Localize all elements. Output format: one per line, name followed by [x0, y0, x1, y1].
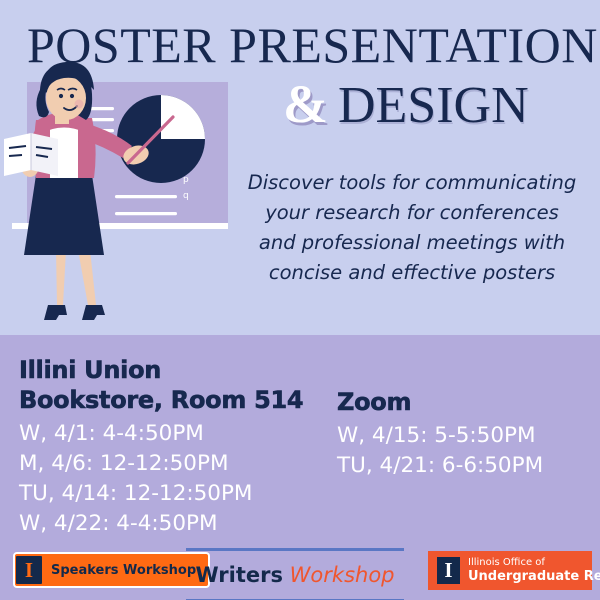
venue-heading: Illini Union Bookstore, Room 514: [19, 355, 339, 415]
writers-workshop-logo[interactable]: Writers Workshop: [186, 548, 404, 600]
writers-workshop-label: Writers Workshop: [195, 563, 394, 587]
presenter-illustration: p q: [0, 0, 240, 340]
undergraduate-research-logo[interactable]: I Illinois Office of Undergraduate Resea…: [428, 551, 592, 590]
description-line: concise and effective posters: [228, 258, 596, 288]
venue-slot: TU, 4/14: 12-12:50PM: [19, 479, 339, 509]
block-i-glyph: I: [444, 560, 452, 581]
leg-back: [56, 250, 66, 305]
illinois-block-i-icon: I: [437, 557, 460, 584]
zoom-column: Zoom W, 4/15: 5-5:50PM TU, 4/21: 6-6:50P…: [337, 387, 592, 481]
illinois-block-i-icon: I: [16, 556, 42, 584]
shoe-front: [82, 305, 105, 320]
venue-heading-line: Illini Union: [19, 355, 339, 385]
open-booklet: [4, 133, 58, 176]
board-line: [115, 212, 177, 215]
zoom-slot: W, 4/15: 5-5:50PM: [337, 421, 592, 451]
skirt: [24, 175, 104, 255]
board-mark-q: q: [183, 191, 189, 201]
undergrad-text-block: Illinois Office of Undergraduate Researc…: [468, 557, 600, 584]
zoom-slot: TU, 4/21: 6-6:50PM: [337, 451, 592, 481]
description-line: Discover tools for communicating: [228, 168, 596, 198]
writers-word: Writers: [195, 563, 283, 587]
venue-slot: M, 4/6: 12-12:50PM: [19, 449, 339, 479]
eye: [70, 94, 74, 98]
venue-slot: W, 4/1: 4-4:50PM: [19, 419, 339, 449]
block-i-glyph: I: [25, 560, 33, 581]
undergrad-line-2: Undergraduate Research: [468, 569, 600, 584]
description-line: and professional meetings with: [228, 228, 596, 258]
speakers-workshop-logo[interactable]: I Speakers Workshop: [13, 552, 210, 588]
poster-flyer: POSTER PRESENTATION &DESIGN Discover too…: [0, 0, 600, 600]
venue-column: Illini Union Bookstore, Room 514 W, 4/1:…: [19, 355, 339, 539]
workshop-word: Workshop: [290, 563, 395, 587]
venue-slot-list: W, 4/1: 4-4:50PM M, 4/6: 12-12:50PM TU, …: [19, 419, 339, 539]
venue-slot: W, 4/22: 4-4:50PM: [19, 509, 339, 539]
shoe-back: [44, 305, 67, 320]
board-line: [115, 195, 177, 198]
footer-logo-bar: I Speakers Workshop Writers Workshop I I…: [0, 548, 600, 600]
eye: [59, 94, 63, 98]
poster-title-design-word: DESIGN: [338, 77, 529, 134]
board-mark-p: p: [183, 175, 189, 185]
pie-chart: [117, 95, 205, 183]
venue-heading-line: Bookstore, Room 514: [19, 385, 339, 415]
undergrad-line-1: Illinois Office of: [468, 557, 600, 569]
description-line: your research for conferences: [228, 198, 596, 228]
poster-title-line-2: &DESIGN: [283, 76, 529, 134]
zoom-heading: Zoom: [337, 387, 592, 417]
speakers-workshop-label: Speakers Workshop: [51, 563, 196, 578]
description-text: Discover tools for communicating your re…: [228, 168, 596, 288]
blush: [75, 100, 84, 109]
zoom-slot-list: W, 4/15: 5-5:50PM TU, 4/21: 6-6:50PM: [337, 421, 592, 481]
ampersand-glyph: &: [283, 76, 338, 132]
leg-front: [78, 250, 96, 305]
